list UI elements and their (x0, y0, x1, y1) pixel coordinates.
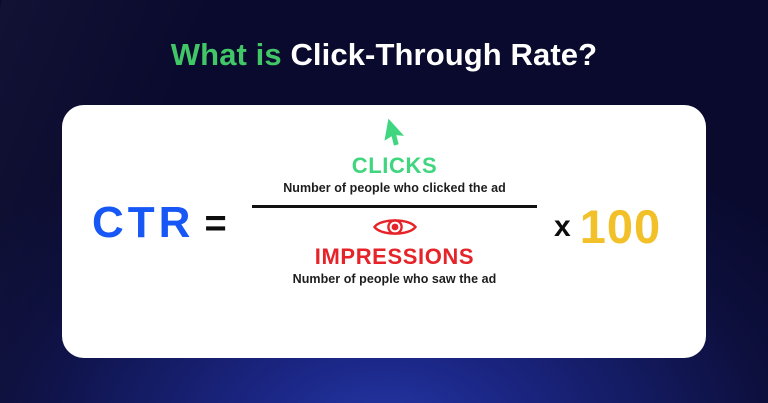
formula-card: CTR = CLICKS Number of people who clicke… (62, 105, 706, 358)
cursor-arrow-icon (382, 118, 408, 153)
fraction-bar (252, 205, 537, 208)
equals-sign: = (204, 205, 226, 243)
page-title: What is Click-Through Rate? (0, 36, 768, 73)
multiplier-value: 100 (580, 203, 661, 250)
title-accent-text: What is (171, 37, 291, 72)
formula-left-side: CTR = (92, 201, 227, 245)
ctr-formula: CTR = CLICKS Number of people who clicke… (62, 105, 706, 358)
eye-icon (372, 215, 418, 244)
fraction-block: CLICKS Number of people who clicked the … (252, 119, 537, 287)
impressions-label: IMPRESSIONS (252, 244, 537, 269)
cursor-arrow-icon-row (252, 119, 537, 153)
title-plain-text: Click-Through Rate? (290, 37, 597, 72)
infographic-canvas: What is Click-Through Rate? CTR = (0, 0, 768, 403)
eye-icon-row (252, 216, 537, 244)
clicks-description: Number of people who clicked the ad (252, 180, 537, 196)
times-sign: x (554, 212, 571, 242)
fraction-numerator: CLICKS Number of people who clicked the … (252, 119, 537, 199)
ctr-label: CTR (92, 201, 194, 245)
clicks-label: CLICKS (252, 153, 537, 178)
formula-multiplier: x 100 (554, 203, 661, 250)
impressions-description: Number of people who saw the ad (252, 271, 537, 287)
fraction-denominator: IMPRESSIONS Number of people who saw the… (252, 212, 537, 288)
